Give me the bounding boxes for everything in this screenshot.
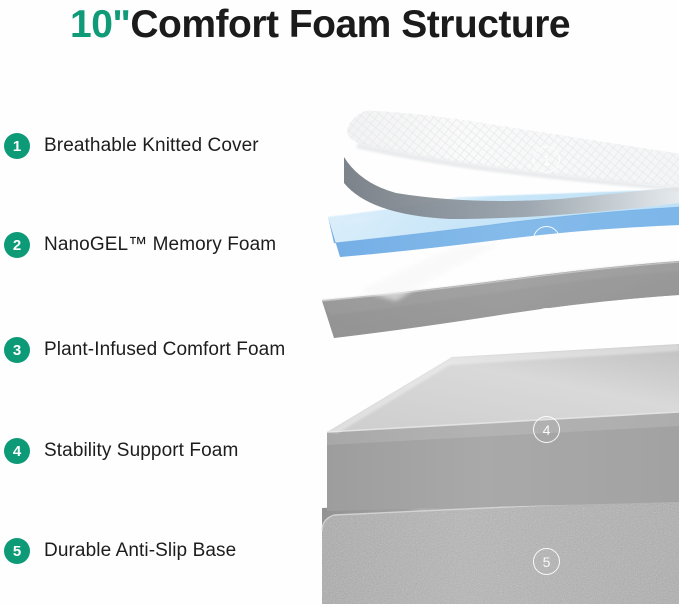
title-measurement: 10" [70,3,130,46]
legend-item-1: 1 Breathable Knitted Cover [4,133,259,159]
layer-badge-5: 5 [533,548,560,575]
foam-structure-infographic: 10"Comfort Foam Structure 1 Breathable K… [0,0,679,604]
layer-badge-1: 1 [533,146,560,173]
legend-item-5: 5 Durable Anti-Slip Base [4,538,236,564]
layer-badge-4: 4 [533,416,560,443]
legend-badge-5: 5 [4,538,30,564]
layer-badge-3: 3 [533,308,560,335]
legend-badge-2: 2 [4,232,30,258]
layer-3-plant-infused-comfort-foam [322,245,679,339]
title-text: Comfort Foam Structure [130,3,570,46]
legend-item-2: 2 NanoGEL™ Memory Foam [4,232,276,258]
legend-badge-4: 4 [4,438,30,464]
legend-label-3: Plant-Infused Comfort Foam [44,339,285,361]
legend-label-2: NanoGEL™ Memory Foam [44,234,276,256]
legend-item-4: 4 Stability Support Foam [4,438,238,464]
legend-label-4: Stability Support Foam [44,440,238,462]
legend-badge-1: 1 [4,133,30,159]
layer-1-breathable-knitted-cover [344,110,679,219]
legend-label-1: Breathable Knitted Cover [44,135,259,157]
foam-layer-stack: 1 2 3 4 5 [300,95,679,604]
legend-item-3: 3 Plant-Infused Comfort Foam [4,337,285,363]
legend-label-5: Durable Anti-Slip Base [44,540,236,562]
legend-badge-3: 3 [4,337,30,363]
layer-badge-2: 2 [533,226,560,253]
layer-4-stability-support-foam [327,344,679,511]
page-title: 10"Comfort Foam Structure [70,2,570,48]
foam-stack-illustration [300,95,679,604]
